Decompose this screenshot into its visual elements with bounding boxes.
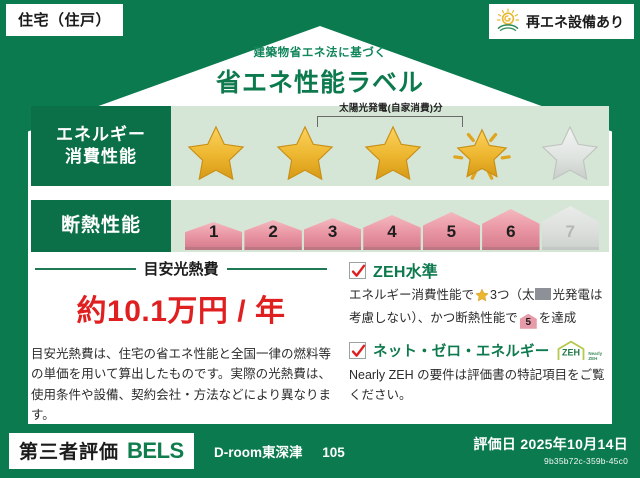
zeh-standard-description: エネルギー消費性能で3つ（太光発電は考慮しない）、かつ断熱性能で5を達成 — [349, 286, 609, 329]
check-icon — [351, 344, 366, 359]
utility-cost-note: 目安光熱費は、住宅の省エネ性能と全国一律の燃料等の単価を用いて算出したものです。… — [31, 344, 331, 425]
solar-contribution-caption: 太陽光発電(自家消費)分 — [281, 100, 501, 114]
utility-cost-heading-text: 目安光熱費 — [144, 258, 219, 279]
insulation-badge-1: 1 — [185, 222, 242, 250]
energy-label-root: 住宅（住戸） 再エネ設備あり 建築 — [0, 0, 640, 478]
utility-cost-value: 約10.1万円 / 年 — [31, 286, 331, 330]
net-zero-energy-block: ネット・ゼロ・エネルギー ZEH Nearly ZEH Nearly ZEH の… — [349, 340, 609, 406]
building-name: D-room東深津 — [214, 445, 303, 460]
net-zero-heading: ネット・ゼロ・エネルギー ZEH Nearly ZEH — [349, 340, 609, 362]
evaluation-id: 9b35b72c-359b-45c0 — [473, 456, 628, 466]
zeh-column: ZEH水準 エネルギー消費性能で3つ（太光発電は考慮しない）、かつ断熱性能で5を… — [349, 258, 609, 416]
insulation-scale: 1 2 3 4 5 6 7 — [185, 202, 599, 250]
net-zero-description: Nearly ZEH の要件は評価書の特記項目をご覧ください。 — [349, 366, 609, 406]
zeh-logo-subtext: Nearly ZEH — [588, 352, 602, 361]
label-title-block: 建築物省エネ法に基づく 省エネ性能ラベル — [0, 44, 640, 99]
zeh-desc-part2: 3つ（太 — [490, 288, 534, 302]
lower-content: 目安光熱費 約10.1万円 / 年 目安光熱費は、住宅の省エネ性能と全国一律の燃… — [31, 258, 609, 416]
net-zero-title: ネット・ゼロ・エネルギー — [373, 340, 549, 361]
insulation-performance-row: 断熱性能 1 2 3 4 5 6 7 — [31, 200, 609, 252]
insulation-badge-3: 3 — [304, 218, 361, 250]
insulation-badge-6: 6 — [482, 209, 539, 250]
zeh-standard-block: ZEH水準 エネルギー消費性能で3つ（太光発電は考慮しない）、かつ断熱性能で5を… — [349, 258, 609, 329]
star-1-filled — [185, 122, 247, 184]
insulation-badge-7: 7 — [542, 206, 599, 250]
sun-solar-icon — [495, 8, 521, 35]
bels-logo-text: BELS — [127, 438, 184, 464]
insulation-badge-5: 5 — [423, 212, 480, 250]
energy-performance-label: エネルギー 消費性能 — [31, 106, 171, 186]
zeh-house-logo: ZEH Nearly ZEH — [556, 340, 602, 362]
zeh-standard-checkbox[interactable] — [349, 262, 366, 279]
insulation-badge-2: 2 — [244, 220, 301, 250]
zeh-standard-title: ZEH水準 — [373, 258, 438, 282]
check-icon — [351, 264, 366, 279]
svg-text:ZEH: ZEH — [562, 347, 580, 357]
label-footer: 第三者評価 BELS D-room東深津 105 評価日 2025年10月14日… — [0, 424, 640, 478]
heading-rule-right — [227, 268, 328, 270]
dwelling-type-label: 住宅（住戸） — [18, 9, 111, 30]
zeh-logo-icon: ZEH — [556, 340, 586, 362]
energy-performance-row: エネルギー 消費性能 太陽光発電(自家消費)分 — [31, 106, 609, 186]
inline-star-icon — [475, 291, 489, 305]
insulation-badges-area: 1 2 3 4 5 6 7 — [171, 200, 609, 252]
evaluation-info: 評価日 2025年10月14日 9b35b72c-359b-45c0 — [473, 434, 628, 466]
unit-number: 105 — [322, 445, 345, 460]
energy-label-line1: エネルギー — [56, 124, 146, 146]
third-party-eval-label: 第三者評価 — [19, 437, 119, 464]
energy-label-line2: 消費性能 — [65, 146, 137, 168]
zeh-desc-part4: を達成 — [539, 311, 577, 325]
insulation-badge-4: 4 — [363, 215, 420, 250]
inline-insulation-badge: 5 — [520, 314, 537, 329]
star-2-filled — [274, 122, 336, 184]
label-subtitle: 建築物省エネ法に基づく — [0, 44, 640, 60]
net-zero-checkbox[interactable] — [349, 342, 366, 359]
evaluation-date: 評価日 2025年10月14日 — [473, 434, 628, 454]
renewable-equipment-tag: 再エネ設備あり — [489, 4, 634, 39]
insulation-performance-label: 断熱性能 — [31, 200, 171, 252]
utility-cost-column: 目安光熱費 約10.1万円 / 年 目安光熱費は、住宅の省エネ性能と全国一律の燃… — [31, 258, 331, 425]
star-4-filled-solar — [451, 122, 513, 184]
star-5-empty — [539, 122, 601, 184]
label-main-title: 省エネ性能ラベル — [0, 63, 640, 99]
zeh-desc-part1: エネルギー消費性能で — [349, 288, 474, 302]
utility-cost-heading: 目安光熱費 — [31, 258, 331, 279]
heading-rule-left — [35, 268, 136, 270]
building-identifier: D-room東深津 105 — [214, 441, 345, 461]
redaction-block — [535, 288, 551, 300]
energy-stars-area: 太陽光発電(自家消費)分 — [171, 106, 609, 186]
dwelling-type-tag: 住宅（住戸） — [6, 4, 123, 36]
star-3-filled — [362, 122, 424, 184]
star-rating — [185, 122, 601, 184]
zeh-logo-sub-line2: ZEH — [588, 357, 602, 362]
bels-certification-box: 第三者評価 BELS — [9, 433, 194, 469]
renewable-equipment-label: 再エネ設備あり — [526, 12, 624, 32]
zeh-standard-heading: ZEH水準 — [349, 258, 609, 282]
